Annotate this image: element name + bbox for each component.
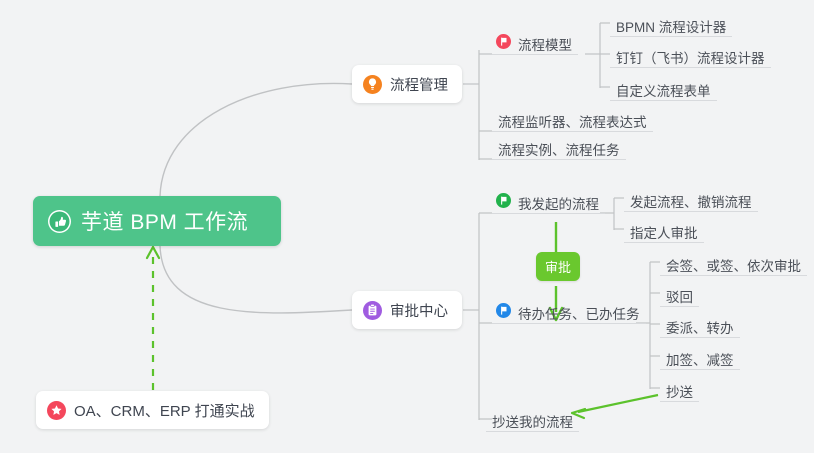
root-node[interactable]: 芋道 BPM 工作流 bbox=[33, 196, 281, 246]
edge-root-to-process-management bbox=[160, 83, 352, 196]
thumbs-up-icon bbox=[47, 209, 72, 234]
leaf-label-my-initiated-process: 我发起的流程 bbox=[518, 198, 599, 212]
star-icon bbox=[47, 401, 66, 420]
edge-root-to-approval-center bbox=[160, 246, 352, 313]
dashed-green-arrow bbox=[147, 247, 159, 390]
mindmap-canvas: 芋道 BPM 工作流 流程管理 流程模型 BPMN 流程设计器 钉钉（飞书）流程… bbox=[0, 0, 814, 453]
flag-icon-red bbox=[496, 34, 511, 49]
leaf-bpmn-designer[interactable]: BPMN 流程设计器 bbox=[610, 10, 732, 37]
flag-icon-green bbox=[496, 193, 511, 208]
floating-note-label: OA、CRM、ERP 打通实战 bbox=[74, 400, 255, 421]
flag-icon-blue bbox=[496, 303, 511, 318]
leaf-label-delegate-transfer: 委派、转办 bbox=[666, 322, 734, 336]
leaf-label-process-listener-expression: 流程监听器、流程表达式 bbox=[498, 116, 647, 130]
root-label: 芋道 BPM 工作流 bbox=[81, 206, 248, 236]
leaf-label-start-cancel-process: 发起流程、撤销流程 bbox=[630, 196, 752, 210]
approval-highlight-pill[interactable]: 审批 bbox=[536, 252, 580, 281]
lightbulb-icon bbox=[363, 75, 382, 94]
leaf-label-bpmn-designer: BPMN 流程设计器 bbox=[616, 21, 726, 35]
approval-pill-label: 审批 bbox=[545, 257, 571, 276]
leaf-label-carbon-copy: 抄送 bbox=[666, 386, 693, 400]
leaf-delegate-transfer[interactable]: 委派、转办 bbox=[660, 311, 740, 338]
branch-node-process-management[interactable]: 流程管理 bbox=[352, 65, 462, 103]
leaf-label-custom-process-form: 自定义流程表单 bbox=[616, 85, 711, 99]
leaf-process-model[interactable]: 流程模型 bbox=[492, 28, 578, 55]
leaf-add-remove-sign[interactable]: 加签、减签 bbox=[660, 343, 740, 370]
branch-label-process-management: 流程管理 bbox=[390, 74, 448, 95]
leaf-process-instance-task[interactable]: 流程实例、流程任务 bbox=[492, 133, 626, 160]
cc-flow-arrow bbox=[572, 395, 658, 418]
branch-label-approval-center: 审批中心 bbox=[390, 300, 448, 321]
leaf-cc-to-me-process[interactable]: 抄送我的流程 bbox=[486, 405, 579, 432]
leaf-label-add-remove-sign: 加签、减签 bbox=[666, 354, 734, 368]
leaf-dingtalk-feishu-designer[interactable]: 钉钉（飞书）流程设计器 bbox=[610, 41, 771, 68]
leaf-process-listener-expression[interactable]: 流程监听器、流程表达式 bbox=[492, 105, 653, 132]
branch-node-approval-center[interactable]: 审批中心 bbox=[352, 291, 462, 329]
clipboard-icon bbox=[363, 301, 382, 320]
leaf-assignee-approval[interactable]: 指定人审批 bbox=[624, 216, 704, 243]
leaf-start-cancel-process[interactable]: 发起流程、撤销流程 bbox=[624, 185, 758, 212]
floating-note-integration[interactable]: OA、CRM、ERP 打通实战 bbox=[36, 391, 269, 429]
leaf-label-cc-to-me-process: 抄送我的流程 bbox=[492, 416, 573, 430]
leaf-reject[interactable]: 驳回 bbox=[660, 280, 699, 307]
leaf-my-initiated-process[interactable]: 我发起的流程 bbox=[492, 187, 605, 214]
leaf-custom-process-form[interactable]: 自定义流程表单 bbox=[610, 74, 717, 101]
leaf-todo-done-tasks[interactable]: 待办任务、已办任务 bbox=[492, 297, 646, 324]
leaf-countersign-orsign-sequential[interactable]: 会签、或签、依次审批 bbox=[660, 249, 807, 276]
leaf-label-assignee-approval: 指定人审批 bbox=[630, 227, 698, 241]
leaf-label-todo-done-tasks: 待办任务、已办任务 bbox=[518, 308, 640, 322]
leaf-label-reject: 驳回 bbox=[666, 291, 693, 305]
leaf-label-dingtalk-feishu-designer: 钉钉（飞书）流程设计器 bbox=[616, 52, 765, 66]
leaf-label-process-model: 流程模型 bbox=[518, 39, 572, 53]
leaf-label-process-instance-task: 流程实例、流程任务 bbox=[498, 144, 620, 158]
leaf-label-countersign-orsign-sequential: 会签、或签、依次审批 bbox=[666, 260, 801, 274]
leaf-carbon-copy[interactable]: 抄送 bbox=[660, 375, 699, 402]
